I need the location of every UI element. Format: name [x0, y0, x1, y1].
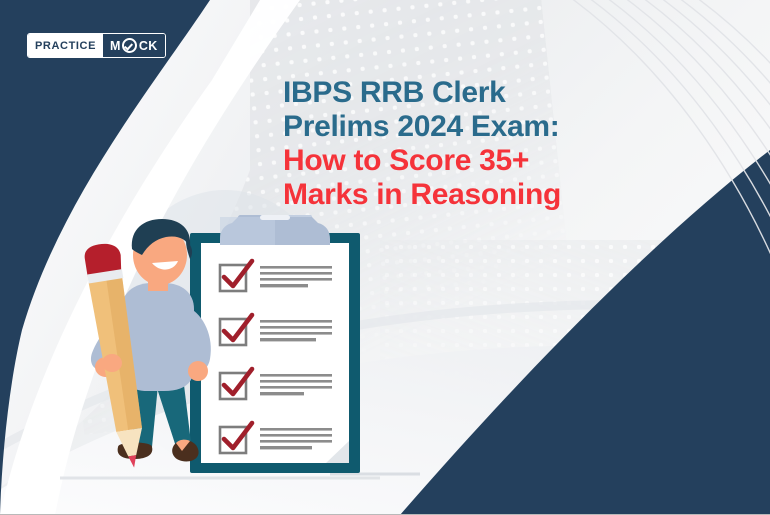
character-hand-right	[188, 361, 208, 381]
logo-word-mock: M CK	[103, 34, 165, 57]
logo-letters-ck: CK	[139, 39, 158, 53]
character-fingers-over-pencil	[102, 354, 122, 372]
check-in-o-icon	[122, 38, 137, 53]
headline-line-4: Marks in Reasoning	[283, 178, 753, 212]
text-line	[260, 380, 332, 383]
text-line	[260, 386, 332, 389]
text-line	[260, 278, 332, 281]
logo-word-practice: PRACTICE	[28, 34, 103, 57]
text-line	[260, 320, 332, 323]
illustration-student-checklist	[60, 215, 390, 485]
page-title: IBPS RRB Clerk Prelims 2024 Exam: How to…	[283, 76, 753, 212]
text-line	[260, 434, 332, 437]
banner-image: PRACTICE M CK IBPS RRB Clerk Prelims 202…	[0, 0, 770, 515]
logo-letter-m: M	[110, 39, 121, 53]
text-line	[260, 440, 332, 443]
headline-line-3: How to Score 35+	[283, 144, 753, 178]
clipboard	[190, 215, 360, 473]
clip-hole	[260, 215, 290, 220]
practicemock-logo[interactable]: PRACTICE M CK	[27, 33, 166, 58]
clipboard-clip	[220, 215, 330, 245]
text-line	[260, 326, 332, 329]
text-line	[260, 338, 316, 341]
text-line	[260, 428, 332, 431]
text-line	[260, 332, 332, 335]
headline-line-2: Prelims 2024 Exam:	[283, 110, 753, 144]
text-line	[260, 266, 332, 269]
text-line	[260, 272, 332, 275]
headline-line-1: IBPS RRB Clerk	[283, 76, 753, 110]
text-line	[260, 392, 304, 395]
text-line	[260, 446, 312, 449]
text-line	[260, 374, 332, 377]
text-line	[260, 284, 308, 287]
